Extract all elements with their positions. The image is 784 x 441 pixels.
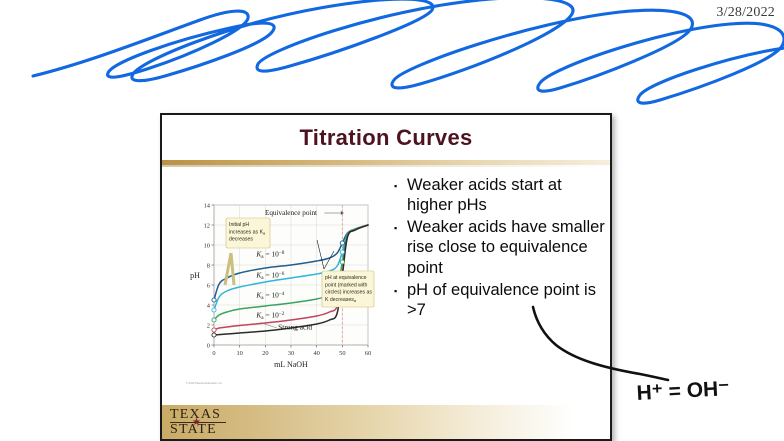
x-axis-tick-label: 0 <box>212 350 215 357</box>
star-icon: ★ <box>192 418 201 428</box>
figure-credit: © 2013 Pearson Education, Inc. <box>186 382 223 385</box>
initial-ph-callout: Initial pHincreases as Kadecreases <box>226 218 270 248</box>
presentation-slide[interactable]: Titration Curves ▪ Weaker acids start at… <box>160 113 612 441</box>
texas-state-logo: TEXAS ★ STATE <box>170 408 226 437</box>
y-axis-tick-label: 4 <box>207 302 211 309</box>
x-axis-tick-label: 10 <box>236 350 242 357</box>
list-item: ▪ Weaker acids start at higher pHs <box>394 175 606 215</box>
list-item: ▪ Weaker acids have smaller rise close t… <box>394 217 606 277</box>
svg-text:increases as Ka: increases as Ka <box>229 229 266 235</box>
y-axis-tick-label: 0 <box>207 342 210 349</box>
y-axis-tick-label: 10 <box>204 242 210 249</box>
bullet-text: Weaker acids start at higher pHs <box>407 175 606 215</box>
initial-ph-marker <box>212 298 216 302</box>
bullet-square-icon: ▪ <box>394 175 407 191</box>
initial-ph-marker <box>212 333 216 337</box>
equivalence-ph-callout: pH at equivalencepoint (marked withcircl… <box>322 271 374 307</box>
y-axis-tick-label: 2 <box>207 322 210 329</box>
bullet-list: ▪ Weaker acids start at higher pHs ▪ Wea… <box>394 175 606 322</box>
svg-text:Initial pH: Initial pH <box>229 222 249 228</box>
list-item: ▪ pH of equivalence point is >7 <box>394 280 606 320</box>
y-axis-tick-label: 8 <box>207 262 210 269</box>
titration-chart-svg: 024681012140102030405060pHmL NaOHKa = 10… <box>184 193 380 381</box>
bullet-text: Weaker acids have smaller rise close to … <box>407 217 606 277</box>
date-stamp: 3/28/2022 <box>716 5 775 21</box>
y-axis-label: pH <box>190 271 200 280</box>
x-axis-tick-label: 20 <box>262 350 268 357</box>
bullet-square-icon: ▪ <box>394 217 407 233</box>
title-divider-rule <box>162 160 610 165</box>
svg-text:point (marked with: point (marked with <box>325 282 367 288</box>
svg-text:K decreasesa: K decreasesa <box>325 297 357 303</box>
x-axis-label: mL NaOH <box>274 360 308 369</box>
svg-text:pH at equivalence: pH at equivalence <box>325 275 367 281</box>
equivalence-marker <box>340 241 344 245</box>
curve-label-strong-acid: Strong acid <box>278 323 312 332</box>
initial-ph-marker <box>212 308 216 312</box>
x-axis-tick-label: 60 <box>365 350 371 357</box>
logo-rule: ★ <box>170 422 226 423</box>
x-axis-tick-label: 30 <box>288 350 294 357</box>
equivalence-point-annotation: Equivalence point <box>265 209 317 217</box>
equivalence-marker <box>340 250 344 254</box>
initial-ph-marker <box>212 318 216 322</box>
initial-ph-marker <box>212 328 216 332</box>
titration-curve-figure: 024681012140102030405060pHmL NaOHKa = 10… <box>184 193 380 383</box>
y-axis-tick-label: 6 <box>207 282 210 289</box>
slide-title: Titration Curves <box>162 125 610 151</box>
svg-text:circles) increases as: circles) increases as <box>325 290 372 296</box>
slide-footer-band: TEXAS ★ STATE <box>162 405 610 439</box>
equivalence-marker <box>340 260 344 264</box>
slide-annotation-canvas: 3/28/2022 Titration Curves ▪ Weaker acid… <box>0 0 784 441</box>
bullet-square-icon: ▪ <box>394 280 407 296</box>
svg-text:decreases: decreases <box>229 237 253 243</box>
bullet-text: pH of equivalence point is >7 <box>407 280 606 320</box>
y-axis-tick-label: 14 <box>204 202 211 209</box>
handwritten-equation: H⁺ = OH⁻ <box>636 377 730 405</box>
y-axis-tick-label: 12 <box>204 222 210 229</box>
x-axis-tick-label: 50 <box>339 350 345 357</box>
x-axis-tick-label: 40 <box>313 350 319 357</box>
